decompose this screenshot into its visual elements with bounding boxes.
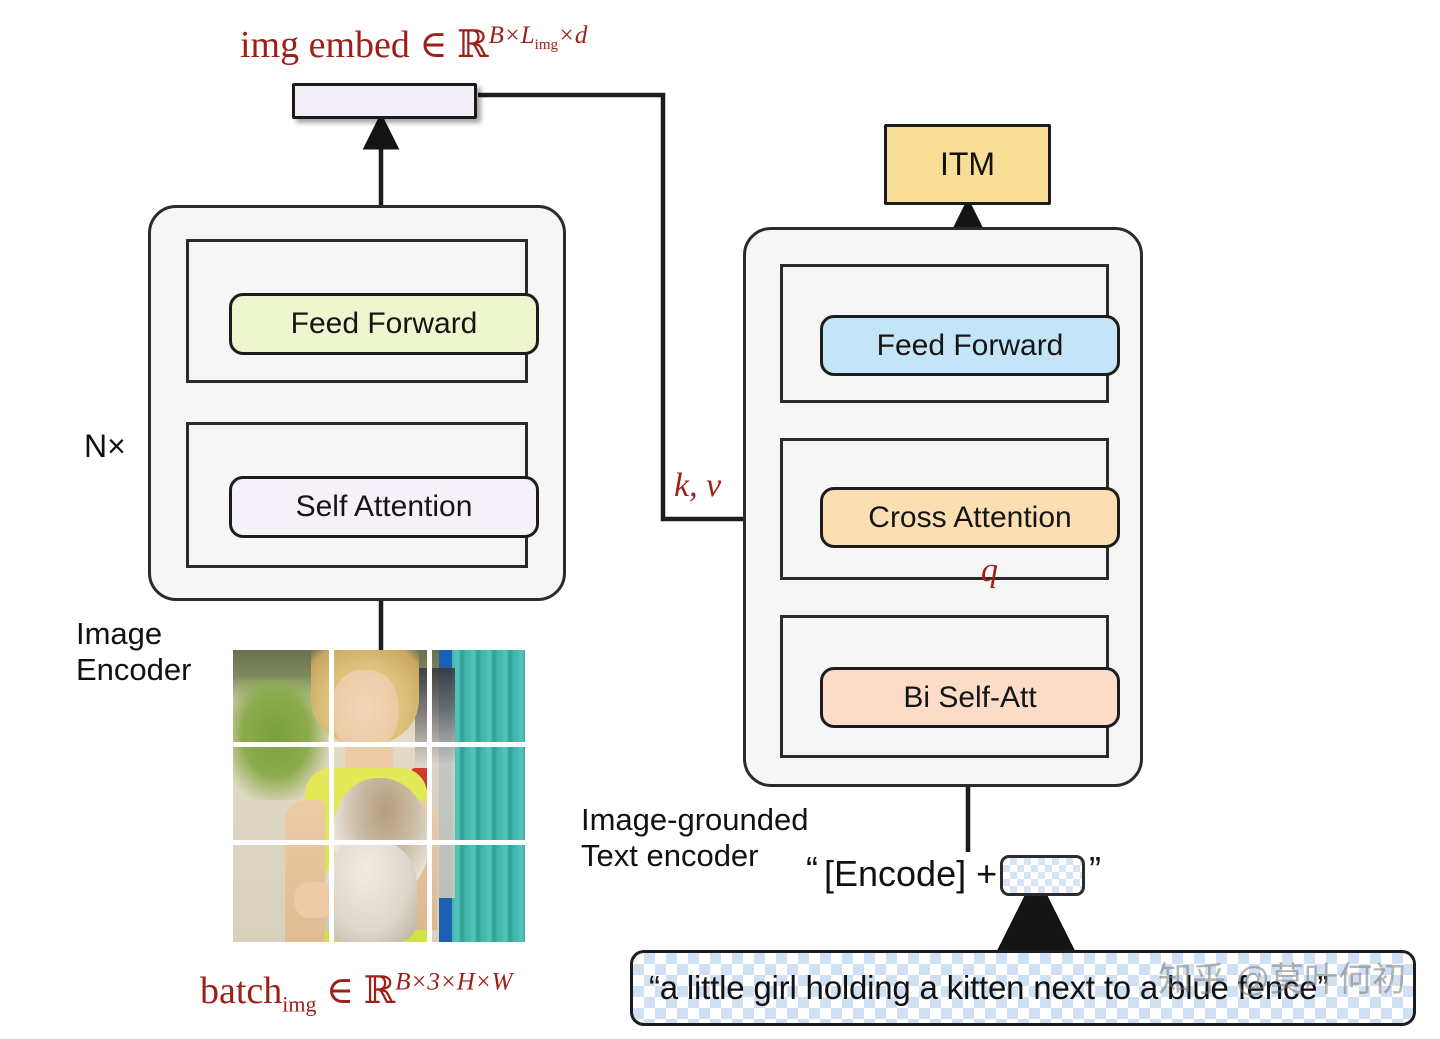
img-embed-formula-tail: ×d — [558, 22, 587, 49]
photo-kitten-body — [325, 840, 417, 942]
batch-img-formula: batchimg ∈ ℝB×3×H×W — [200, 968, 513, 1018]
patch-gridline-h2 — [233, 840, 525, 845]
batch-formula-base: batch — [200, 970, 282, 1012]
encode-prompt-image-token — [1000, 855, 1085, 896]
patch-gridline-v2 — [427, 650, 432, 942]
img-embed-formula: img embed ∈ ℝB×Limg×d — [240, 22, 587, 67]
photo-girl-arm-left — [285, 800, 325, 942]
repeat-count-label: N× — [84, 428, 126, 465]
batch-formula-sup: B×3×H×W — [395, 968, 512, 995]
img-embed-formula-sub: img — [535, 37, 558, 53]
itm-label: ITM — [940, 146, 995, 183]
photo-fence — [451, 650, 525, 942]
watermark: 知乎 @莫叶何初 — [1158, 952, 1406, 1001]
encode-prompt-open-quote: “ — [806, 849, 818, 890]
block-feed-forward-image[interactable]: Feed Forward — [229, 293, 539, 355]
block-cross-attention[interactable]: Cross Attention — [820, 487, 1120, 548]
img-embed-box — [292, 83, 477, 119]
itm-head[interactable]: ITM — [884, 124, 1051, 205]
block-feed-forward-text[interactable]: Feed Forward — [820, 315, 1120, 376]
encode-prompt-text: [Encode] + — [824, 853, 997, 894]
text-encoder-label: Image-groundedText encoder — [581, 802, 809, 873]
block-label: Cross Attention — [868, 501, 1071, 535]
patch-gridline-v1 — [329, 650, 334, 942]
kv-label: k, v — [674, 467, 721, 505]
block-label: Bi Self-Att — [903, 681, 1036, 715]
batch-formula-mid: ∈ ℝ — [317, 970, 396, 1012]
block-label: Feed Forward — [291, 307, 478, 341]
block-self-attention-image[interactable]: Self Attention — [229, 476, 539, 538]
batch-formula-sub: img — [282, 992, 316, 1017]
input-image-patches — [233, 650, 525, 942]
image-encoder-label: ImageEncoder — [76, 616, 191, 687]
img-embed-formula-sup: B×L — [489, 22, 535, 49]
block-label: Self Attention — [296, 490, 473, 524]
block-bi-self-att[interactable]: Bi Self-Att — [820, 667, 1120, 728]
encode-prompt-close-quote: ” — [1089, 849, 1101, 890]
img-embed-formula-base: img embed ∈ ℝ — [240, 24, 489, 66]
q-label: q — [981, 552, 998, 590]
block-label: Feed Forward — [877, 329, 1064, 363]
diagram-canvas: img embed ∈ ℝB×Limg×d Feed Forward Self … — [0, 0, 1440, 1039]
patch-gridline-h1 — [233, 742, 525, 747]
